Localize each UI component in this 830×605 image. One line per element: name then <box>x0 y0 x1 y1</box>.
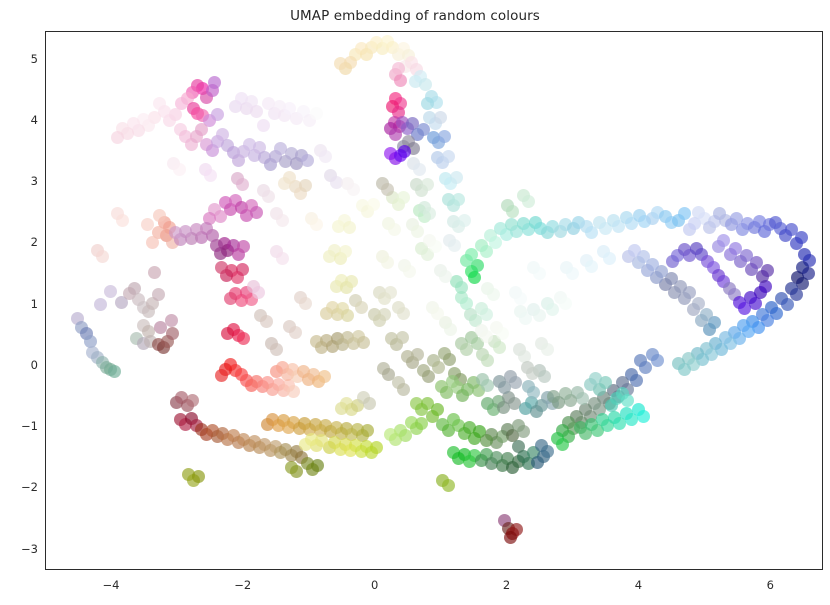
x-tick-label: −4 <box>91 578 131 592</box>
x-tick-label: 4 <box>618 578 658 592</box>
figure-container: UMAP embedding of random colours 543210−… <box>0 0 830 605</box>
x-axis-tick-labels: −4−20246 <box>0 0 830 605</box>
x-tick-label: 2 <box>487 578 527 592</box>
x-tick-label: 6 <box>750 578 790 592</box>
x-tick-label: −2 <box>223 578 263 592</box>
x-tick-label: 0 <box>355 578 395 592</box>
